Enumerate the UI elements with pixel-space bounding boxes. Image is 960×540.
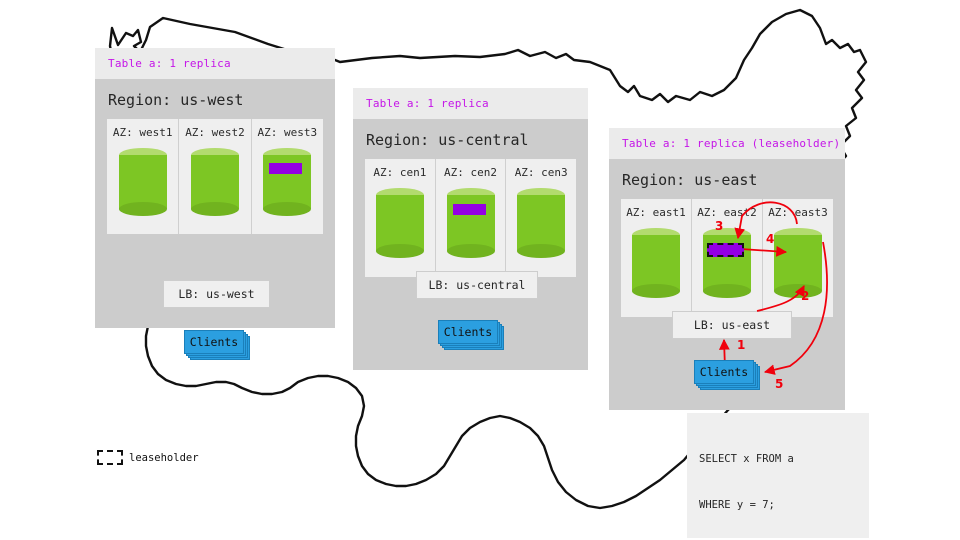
az-cell-west3[interactable]: AZ: west3 [252, 119, 323, 234]
clients-button-us-east[interactable]: Clients [694, 360, 754, 384]
panel-header-us-central: Table a: 1 replica [353, 88, 588, 119]
region-title-us-west: Region: us-west [95, 79, 335, 119]
cylinder-body [632, 235, 680, 291]
sql-query-line2: WHERE y = 7; [699, 498, 857, 513]
cylinder-bottom [376, 244, 424, 258]
step-number-4: 4 [766, 232, 774, 246]
az-cell-east1[interactable]: AZ: east1 [621, 199, 692, 317]
az-label-cen1: AZ: cen1 [373, 166, 426, 179]
cylinder-bottom [119, 202, 167, 216]
az-cell-west1[interactable]: AZ: west1 [107, 119, 179, 234]
replica-band-west3[interactable] [269, 163, 302, 174]
az-label-east3: AZ: east3 [768, 206, 828, 219]
node-cylinder-cen2[interactable] [447, 188, 495, 258]
az-cell-cen2[interactable]: AZ: cen2 [436, 159, 507, 277]
clients-label-us-east: Clients [700, 365, 748, 379]
step-number-5: 5 [775, 377, 783, 391]
node-cylinder-west1[interactable] [119, 148, 167, 216]
region-panel-us-east: Table a: 1 replica (leaseholder) Region:… [609, 128, 845, 410]
clients-stack-us-central[interactable]: Clients [438, 320, 506, 348]
cylinder-body [774, 235, 822, 291]
az-cell-cen1[interactable]: AZ: cen1 [365, 159, 436, 277]
region-title-us-east: Region: us-east [609, 159, 845, 199]
az-row-us-west: AZ: west1 AZ: west2 AZ: west3 [107, 119, 323, 234]
az-label-west3: AZ: west3 [258, 126, 318, 139]
cylinder-body [376, 195, 424, 251]
cylinder-bottom [191, 202, 239, 216]
lb-box-us-east[interactable]: LB: us-east [672, 311, 792, 339]
sql-query-line1: SELECT x FROM a [699, 452, 857, 467]
clients-label-us-west: Clients [190, 335, 238, 349]
az-label-west1: AZ: west1 [113, 126, 173, 139]
cylinder-bottom [703, 284, 751, 298]
node-cylinder-cen3[interactable] [517, 188, 565, 258]
node-cylinder-east1[interactable] [632, 228, 680, 298]
legend-label: leaseholder [129, 452, 199, 464]
region-panel-us-west: Table a: 1 replica Region: us-west AZ: w… [95, 48, 335, 328]
node-cylinder-cen1[interactable] [376, 188, 424, 258]
replica-band-cen2[interactable] [453, 204, 486, 215]
cylinder-body [119, 155, 167, 209]
step-number-1: 1 [737, 338, 745, 352]
lb-label-us-west: LB: us-west [178, 287, 254, 301]
node-cylinder-west3[interactable] [263, 148, 311, 216]
az-row-us-central: AZ: cen1 AZ: cen2 AZ: cen3 [365, 159, 576, 277]
az-label-cen2: AZ: cen2 [444, 166, 497, 179]
step-number-3: 3 [715, 219, 723, 233]
lb-label-us-east: LB: us-east [694, 318, 770, 332]
az-label-cen3: AZ: cen3 [515, 166, 568, 179]
leaseholder-band-east2[interactable] [707, 243, 744, 257]
clients-button-us-central[interactable]: Clients [438, 320, 498, 344]
az-cell-west2[interactable]: AZ: west2 [179, 119, 251, 234]
lb-box-us-west[interactable]: LB: us-west [163, 280, 270, 308]
node-cylinder-west2[interactable] [191, 148, 239, 216]
lb-label-us-central: LB: us-central [429, 278, 526, 292]
legend: leaseholder [97, 450, 199, 465]
cylinder-bottom [632, 284, 680, 298]
cylinder-bottom [263, 202, 311, 216]
node-cylinder-east2[interactable] [703, 228, 751, 298]
cylinder-bottom [774, 284, 822, 298]
az-cell-cen3[interactable]: AZ: cen3 [506, 159, 576, 277]
region-panel-us-central: Table a: 1 replica Region: us-central AZ… [353, 88, 588, 370]
cylinder-body [191, 155, 239, 209]
step-number-2: 2 [801, 289, 809, 303]
node-cylinder-east3[interactable] [774, 228, 822, 298]
clients-stack-us-east[interactable]: Clients [694, 360, 762, 388]
clients-stack-us-west[interactable]: Clients [184, 330, 252, 358]
lb-box-us-central[interactable]: LB: us-central [416, 271, 538, 299]
az-label-west2: AZ: west2 [185, 126, 245, 139]
clients-button-us-west[interactable]: Clients [184, 330, 244, 354]
cylinder-bottom [517, 244, 565, 258]
leaseholder-swatch-icon [97, 450, 123, 465]
cylinder-body [517, 195, 565, 251]
clients-label-us-central: Clients [444, 325, 492, 339]
az-cell-east2[interactable]: AZ: east2 [692, 199, 763, 317]
az-label-east1: AZ: east1 [626, 206, 686, 219]
region-title-us-central: Region: us-central [353, 119, 588, 159]
panel-header-us-west: Table a: 1 replica [95, 48, 335, 79]
sql-query-box: SELECT x FROM a WHERE y = 7; [687, 413, 869, 538]
az-cell-east3[interactable]: AZ: east3 [763, 199, 833, 317]
cylinder-bottom [447, 244, 495, 258]
az-label-east2: AZ: east2 [697, 206, 757, 219]
panel-header-us-east: Table a: 1 replica (leaseholder) [609, 128, 845, 159]
